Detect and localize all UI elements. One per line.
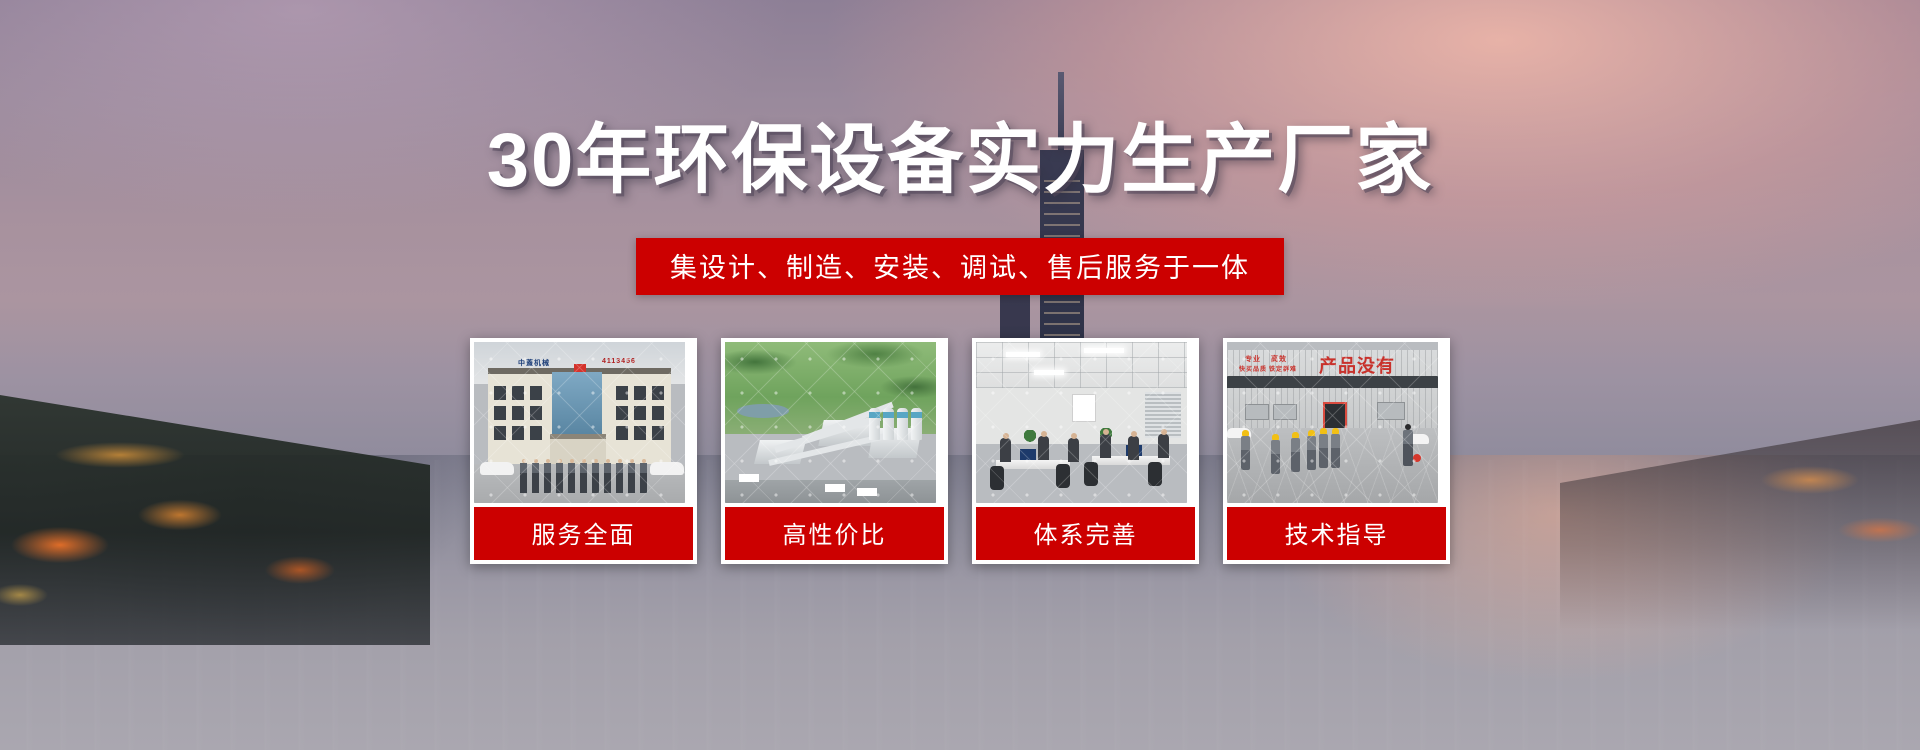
wall-sub-text-2: 高效 <box>1271 354 1287 364</box>
feature-card-caption: 技术指导 <box>1227 507 1446 560</box>
office-meeting-photo <box>976 342 1187 503</box>
feature-card-caption: 服务全面 <box>474 507 693 560</box>
office-building-and-staff-photo: 中蓋机械 4113456 <box>474 342 685 503</box>
feature-card-row: 中蓋机械 4113456 <box>470 338 1450 564</box>
wall-sub-text-4: 铁定群难 <box>1269 364 1297 373</box>
company-phone-text: 4113456 <box>602 358 636 365</box>
feature-card[interactable]: 高性价比 <box>721 338 948 564</box>
factory-yard-workers-photo: 产品没有 专业 高效 快买品质 铁定群难 <box>1227 342 1438 503</box>
company-sign-text: 中蓋机械 <box>518 358 550 368</box>
banner-subtitle-bar: 集设计、制造、安装、调试、售后服务于一体 <box>636 238 1284 295</box>
banner-headline: 30年环保设备实力生产厂家 <box>0 98 1920 208</box>
feature-card[interactable]: 体系完善 <box>972 338 1199 564</box>
hero-banner: 30年环保设备实力生产厂家 集设计、制造、安装、调试、售后服务于一体 中蓋机械 … <box>0 0 1920 750</box>
feature-card[interactable]: 中蓋机械 4113456 <box>470 338 697 564</box>
wall-sub-text-3: 快买品质 <box>1239 364 1267 373</box>
feature-card-caption: 体系完善 <box>976 507 1195 560</box>
banner-content: 30年环保设备实力生产厂家 集设计、制造、安装、调试、售后服务于一体 中蓋机械 … <box>0 0 1920 750</box>
aerial-plant-photo <box>725 342 936 503</box>
feature-card-caption: 高性价比 <box>725 507 944 560</box>
wall-slogan-text: 产品没有 <box>1319 352 1395 378</box>
wall-sub-text-1: 专业 <box>1245 354 1261 364</box>
feature-card[interactable]: 产品没有 专业 高效 快买品质 铁定群难 <box>1223 338 1450 564</box>
